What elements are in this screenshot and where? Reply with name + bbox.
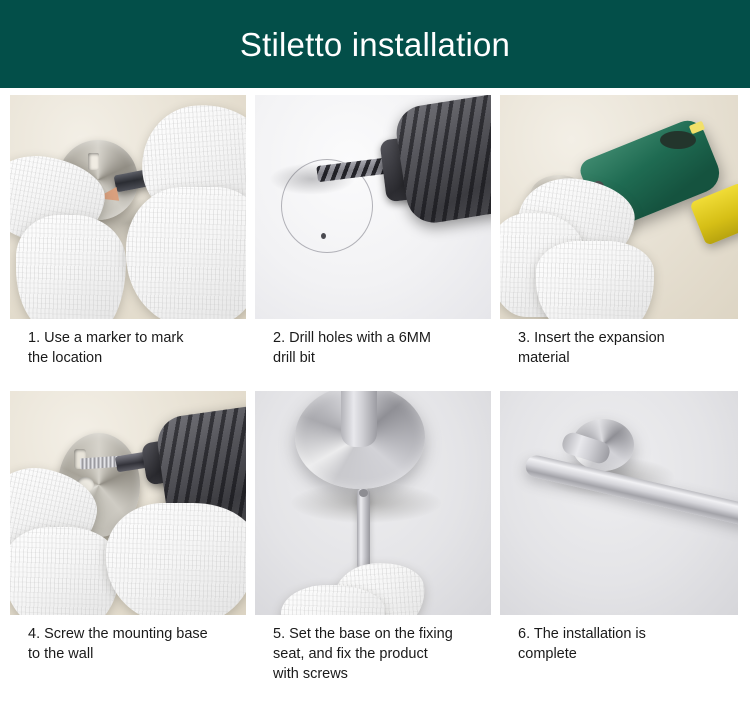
step-image-1 <box>10 95 246 319</box>
step-item-1: 1. Use a marker to mark the location <box>10 95 246 391</box>
step-image-4 <box>10 391 246 615</box>
center-mark-icon <box>321 233 326 239</box>
step-caption-3: 3. Insert the expansion material <box>500 319 738 391</box>
step-caption-1: 1. Use a marker to mark the location <box>10 319 246 391</box>
step-item-4: 4. Screw the mounting base to the wall <box>10 391 246 687</box>
fixing-rod-icon <box>357 489 370 569</box>
step-image-6 <box>500 391 738 615</box>
glove-right-forearm-icon <box>126 187 246 319</box>
step-item-6: 6. The installation is complete <box>500 391 738 687</box>
step-caption-6: 6. The installation is complete <box>500 615 738 687</box>
step-image-3 <box>500 95 738 319</box>
step-item-5: 5. Set the base on the fixing seat, and … <box>255 391 491 687</box>
step-image-5 <box>255 391 491 615</box>
step-caption-2: 2. Drill holes with a 6MM drill bit <box>255 319 491 391</box>
glove-right-icon <box>106 503 246 615</box>
step-item-3: 3. Insert the expansion material <box>500 95 738 391</box>
hammer-eye-icon <box>660 131 696 149</box>
header-banner: Stiletto installation <box>0 0 750 88</box>
step-image-2 <box>255 95 491 319</box>
base-cone-icon <box>341 391 377 447</box>
glove-left-forearm-icon <box>16 215 126 319</box>
glove-forearm-icon <box>536 241 654 319</box>
step-caption-4: 4. Screw the mounting base to the wall <box>10 615 246 687</box>
glove-left-forearm-icon <box>10 527 120 615</box>
set-screw-icon <box>359 489 368 497</box>
step-item-2: 2. Drill holes with a 6MM drill bit <box>255 95 491 391</box>
plate-slot-icon <box>88 153 99 170</box>
steps-grid: 1. Use a marker to mark the location 2. … <box>0 88 750 687</box>
step-caption-5: 5. Set the base on the fixing seat, and … <box>255 615 491 687</box>
installation-infographic: Stiletto installation <box>0 0 750 704</box>
page-title: Stiletto installation <box>240 28 510 61</box>
